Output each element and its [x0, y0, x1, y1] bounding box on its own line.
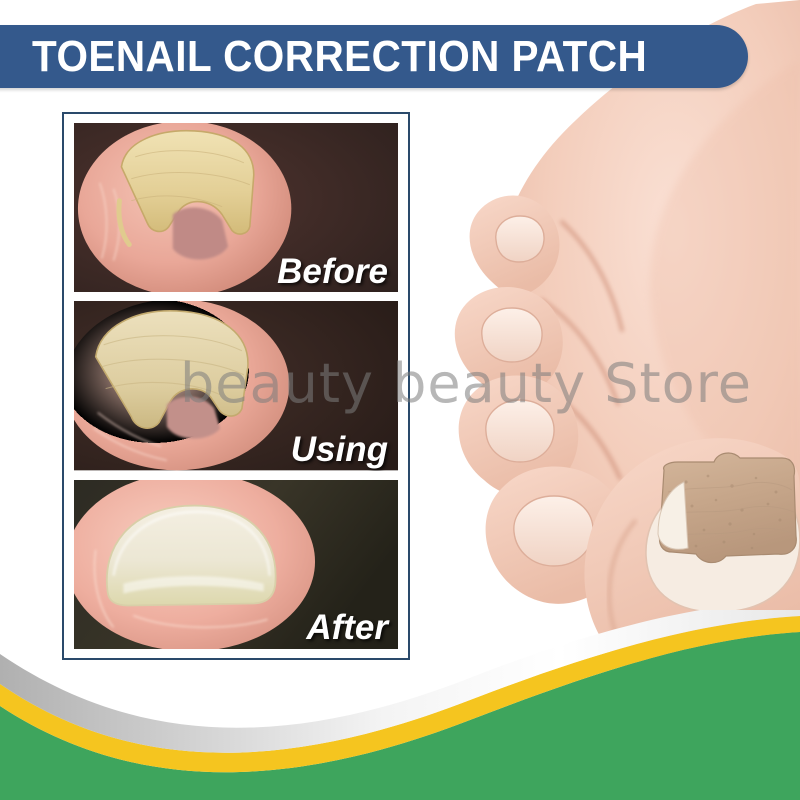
foot-with-patch-photo	[396, 0, 800, 672]
page-title: TOENAIL CORRECTION PATCH	[32, 32, 647, 82]
before-photo	[74, 123, 398, 292]
bottom-wave-decoration	[0, 610, 800, 800]
correction-patch	[658, 453, 796, 563]
product-image-canvas: TOENAIL CORRECTION PATCH	[0, 0, 800, 800]
wave-graphic	[0, 610, 800, 800]
panel-using: Using	[74, 301, 398, 470]
title-banner: TOENAIL CORRECTION PATCH	[0, 25, 748, 88]
foot-illustration	[396, 0, 800, 672]
before-after-frame: Before	[62, 112, 410, 660]
panel-before: Before	[74, 123, 398, 292]
using-photo	[74, 301, 398, 470]
